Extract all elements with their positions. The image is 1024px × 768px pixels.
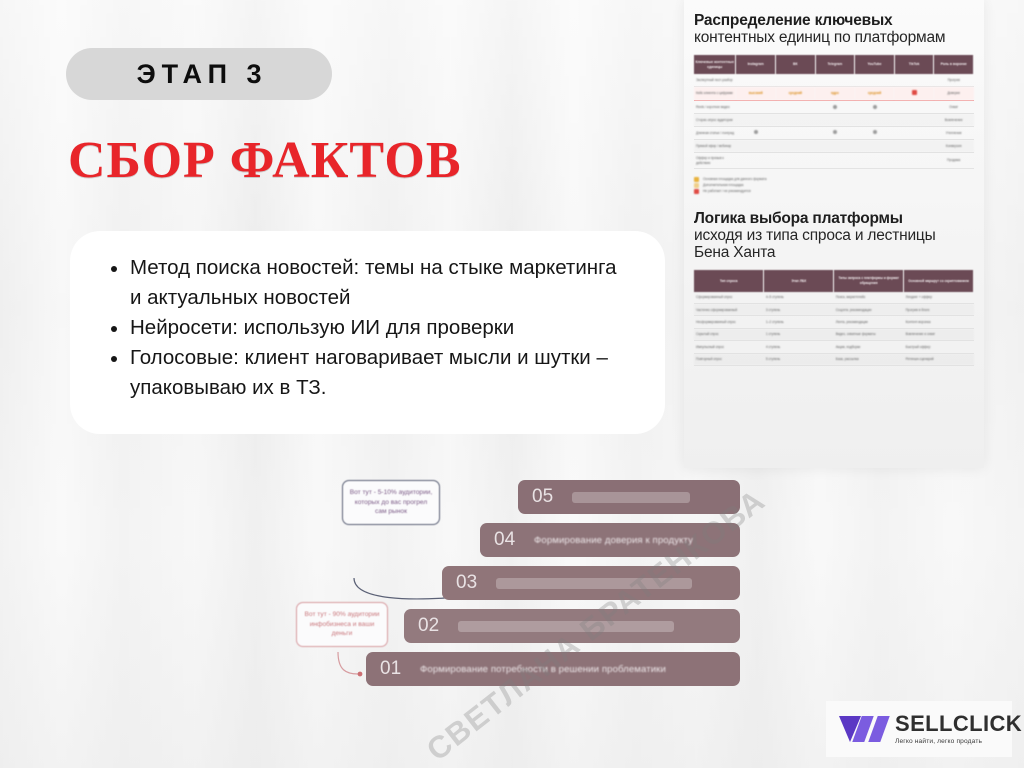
cell-tt: [894, 114, 934, 126]
funnel-row-02: 02: [404, 609, 740, 643]
status-dot-icon: [833, 105, 837, 109]
list-item: Голосовые: клиент наговаривает мысли и ш…: [104, 343, 631, 403]
col-tiktok: TikTok: [894, 55, 934, 74]
document-panel: Распределение ключевых контентных единиц…: [684, 0, 984, 468]
cell-unit: Длинная статья / лонгрид: [694, 126, 736, 139]
status-dot-icon: [833, 130, 837, 134]
col-youtube: YouTube: [855, 55, 895, 74]
cell-tt: [894, 74, 934, 86]
funnel-row-01: 01 Формирование потребности в решении пр…: [366, 652, 740, 686]
distribution-table: Ключевые контентные единицы Instagram ВК…: [694, 55, 974, 169]
table-row: Несформированный спрос 1–2 ступень Лента…: [694, 316, 974, 328]
cell-tt: [894, 86, 934, 100]
cell-request: Акции, подборки: [834, 341, 904, 353]
cell-role: Прогрев: [934, 74, 974, 86]
col-hunt-stage: Этап ЛБХ: [764, 270, 834, 291]
funnel-row-03: 03: [442, 566, 740, 600]
funnel-label-redacted: [496, 578, 692, 589]
cell-route: Лендинг + оффер: [904, 292, 974, 304]
sellclick-logo: SELLCLICK Легко найти, легко продать: [826, 701, 1012, 757]
col-funnel-role: Роль в воронке: [934, 55, 974, 74]
callout-top: Вот тут - 5-10% аудитории, которых до ва…: [342, 480, 440, 525]
cell-tg: [815, 140, 855, 152]
table-row: Повторный спрос 5 ступень База, рассылка…: [694, 353, 974, 365]
list-item: Метод поиска новостей: темы на стыке мар…: [104, 253, 631, 313]
cell-route: Вовлечение и охват: [904, 328, 974, 340]
cell-stage: 5 ступень: [764, 353, 834, 365]
table-row: Сформированный спрос 4–5 ступень Поиск, …: [694, 292, 974, 304]
cell-request: Лента, рекомендации: [834, 316, 904, 328]
cell-yt: [855, 140, 895, 152]
cell-ig: [736, 152, 776, 169]
connector-dot-bottom: [358, 672, 363, 677]
cell-role: Доверие: [934, 86, 974, 100]
cell-ig: [736, 74, 776, 86]
cell-yt: [855, 101, 895, 114]
cell-tg: [815, 114, 855, 126]
table-row: Прямой эфир / вебинар Конверсия: [694, 140, 974, 152]
cell-stage: 1 ступень: [764, 328, 834, 340]
table-row: Частично сформированный 3 ступень Соцсет…: [694, 304, 974, 316]
col-instagram: Instagram: [736, 55, 776, 74]
table-row: Скрытый спрос 1 ступень Видео, охватные …: [694, 328, 974, 340]
platform-logic-table-body: Сформированный спрос 4–5 ступень Поиск, …: [694, 292, 974, 366]
cell-request: База, рассылка: [834, 353, 904, 365]
status-dot-icon: [873, 130, 877, 134]
col-demand-type: Тип спроса: [694, 270, 764, 291]
cell-unit: Оффер и призыв к действию: [694, 152, 736, 169]
funnel-number: 03: [456, 572, 496, 594]
legend-swatch-icon: [694, 177, 699, 182]
doc-heading-distribution-light: контентных единиц по платформам: [694, 29, 974, 46]
legend-label: Не работает / не рекомендуется: [703, 188, 751, 194]
funnel-number: 05: [532, 486, 572, 508]
table-row: Reels / короткое видео Охват: [694, 101, 974, 114]
cell-stage: 3 ступень: [764, 304, 834, 316]
cell-role: Охват: [934, 101, 974, 114]
callout-bottom: Вот тут - 90% аудитории инфобизнеса и ва…: [296, 602, 388, 647]
col-request-type: Типы запроса с платформы и формат обраще…: [834, 270, 904, 291]
logo-wordmark: SELLCLICK: [895, 713, 1022, 735]
cell-vk: [776, 114, 816, 126]
cell-vk: средний: [776, 86, 816, 100]
cell-ig: [736, 140, 776, 152]
cell-tg: [815, 126, 855, 139]
cell-stage: 4–5 ступень: [764, 292, 834, 304]
cell-stage: 1–2 ступень: [764, 316, 834, 328]
funnel-row-05: 05: [518, 480, 740, 514]
cell-role: Конверсия: [934, 140, 974, 152]
cell-route: Быстрый оффер: [904, 341, 974, 353]
status-dot-icon: [754, 130, 758, 134]
table-row: Длинная статья / лонгрид Утепление: [694, 126, 974, 139]
cell-ig: [736, 101, 776, 114]
funnel-label-redacted: [572, 492, 690, 503]
cell-yt: [855, 152, 895, 169]
list-item: Нейросети: использую ИИ для проверки: [104, 313, 631, 343]
cell-demand: Скрытый спрос: [694, 328, 764, 340]
cell-tg: [815, 152, 855, 169]
table-legend: Основная площадка для данного формата До…: [694, 176, 974, 194]
legend-swatch-icon: [694, 183, 699, 188]
page-title: СБОР ФАКТОВ: [68, 131, 462, 190]
funnel-row-04: 04 Формирование доверия к продукту: [480, 523, 740, 557]
cell-tg: ядро: [815, 86, 855, 100]
stage-badge-label: ЭТАП 3: [130, 59, 267, 90]
table-header-row: Тип спроса Этап ЛБХ Типы запроса с платф…: [694, 270, 974, 291]
funnel-number: 01: [380, 658, 420, 680]
table-row: Экспертный пост-разбор Прогрев: [694, 74, 974, 86]
doc-heading-logic-light-1: исходя из типа спроса и лестницы: [694, 227, 974, 244]
cell-tt: [894, 140, 934, 152]
cell-yt: [855, 74, 895, 86]
platform-logic-table: Тип спроса Этап ЛБХ Типы запроса с платф…: [694, 270, 974, 366]
funnel-diagram: 05 04 Формирование доверия к продукту 03…: [288, 474, 748, 726]
cell-role: Вовлечение: [934, 114, 974, 126]
cell-yt: [855, 126, 895, 139]
status-dot-icon: [912, 90, 917, 95]
funnel-label-redacted: [458, 621, 674, 632]
cell-tt: [894, 152, 934, 169]
cell-request: Поиск, маркетплейс: [834, 292, 904, 304]
cell-demand: Несформированный спрос: [694, 316, 764, 328]
cell-vk: [776, 101, 816, 114]
cell-yt: [855, 114, 895, 126]
cell-unit: Reels / короткое видео: [694, 101, 736, 114]
cell-request: Видео, охватные форматы: [834, 328, 904, 340]
cell-unit: Прямой эфир / вебинар: [694, 140, 736, 152]
cell-role: Продажа: [934, 152, 974, 169]
cell-vk: [776, 152, 816, 169]
cell-tt: [894, 126, 934, 139]
col-main-route: Основной маршрут со скриптованием: [904, 270, 974, 291]
col-key-units: Ключевые контентные единицы: [694, 55, 736, 74]
cell-ig: высокий: [736, 86, 776, 100]
cell-request: Соцсети, рекомендации: [834, 304, 904, 316]
slide-root: ЭТАП 3 СБОР ФАКТОВ Метод поиска новостей…: [0, 0, 1024, 768]
bullet-card: Метод поиска новостей: темы на стыке мар…: [70, 231, 665, 434]
table-row: Сторис-опрос аудитории Вовлечение: [694, 114, 974, 126]
cell-yt: средний: [855, 86, 895, 100]
doc-block-platform-logic: Логика выбора платформы исходя из типа с…: [694, 194, 974, 366]
cell-demand: Частично сформированный: [694, 304, 764, 316]
col-telegram: Telegram: [815, 55, 855, 74]
stage-badge: ЭТАП 3: [66, 48, 332, 100]
logo-text: SELLCLICK Легко найти, легко продать: [895, 713, 1022, 746]
legend-swatch-icon: [694, 189, 699, 194]
distribution-table-body: Экспертный пост-разбор Прогрев Кейс клие…: [694, 74, 974, 169]
col-vk: ВК: [776, 55, 816, 74]
cell-vk: [776, 74, 816, 86]
cell-demand: Повторный спрос: [694, 353, 764, 365]
legend-item: Не работает / не рекомендуется: [694, 188, 974, 194]
cell-vk: [776, 140, 816, 152]
doc-heading-logic-strong: Логика выбора платформы: [694, 210, 974, 227]
cell-unit: Кейс клиента с цифрами: [694, 86, 736, 100]
cell-ig: [736, 126, 776, 139]
table-header-row: Ключевые контентные единицы Instagram ВК…: [694, 55, 974, 74]
table-row: Оффер и призыв к действию Продажа: [694, 152, 974, 169]
table-row: Импульсный спрос 4 ступень Акции, подбор…: [694, 341, 974, 353]
cell-unit: Экспертный пост-разбор: [694, 74, 736, 86]
funnel-label: Формирование доверия к продукту: [534, 535, 693, 546]
funnel-number: 02: [418, 615, 458, 637]
status-dot-icon: [873, 105, 877, 109]
table-row-highlighted: Кейс клиента с цифрами высокий средний я…: [694, 86, 974, 100]
cell-stage: 4 ступень: [764, 341, 834, 353]
funnel-number: 04: [494, 529, 534, 551]
cell-route: Ретеншн-сценарий: [904, 353, 974, 365]
doc-heading-distribution-strong: Распределение ключевых: [694, 12, 974, 29]
doc-block-distribution: Распределение ключевых контентных единиц…: [694, 0, 974, 194]
cell-route: Прогрев в блоге: [904, 304, 974, 316]
bullet-list: Метод поиска новостей: темы на стыке мар…: [104, 253, 631, 403]
cell-route: Контент-воронка: [904, 316, 974, 328]
logo-tagline: Легко найти, легко продать: [895, 739, 1022, 746]
doc-heading-logic-light-2: Бена Ханта: [694, 244, 974, 261]
cell-demand: Импульсный спрос: [694, 341, 764, 353]
cell-tg: [815, 101, 855, 114]
cell-tg: [815, 74, 855, 86]
cell-unit: Сторис-опрос аудитории: [694, 114, 736, 126]
cell-demand: Сформированный спрос: [694, 292, 764, 304]
cell-vk: [776, 126, 816, 139]
cell-role: Утепление: [934, 126, 974, 139]
connector-line-bottom: [338, 652, 358, 674]
cell-ig: [736, 114, 776, 126]
funnel-label: Формирование потребности в решении пробл…: [420, 664, 666, 675]
sellclick-mark-icon: [839, 716, 886, 742]
cell-tt: [894, 101, 934, 114]
